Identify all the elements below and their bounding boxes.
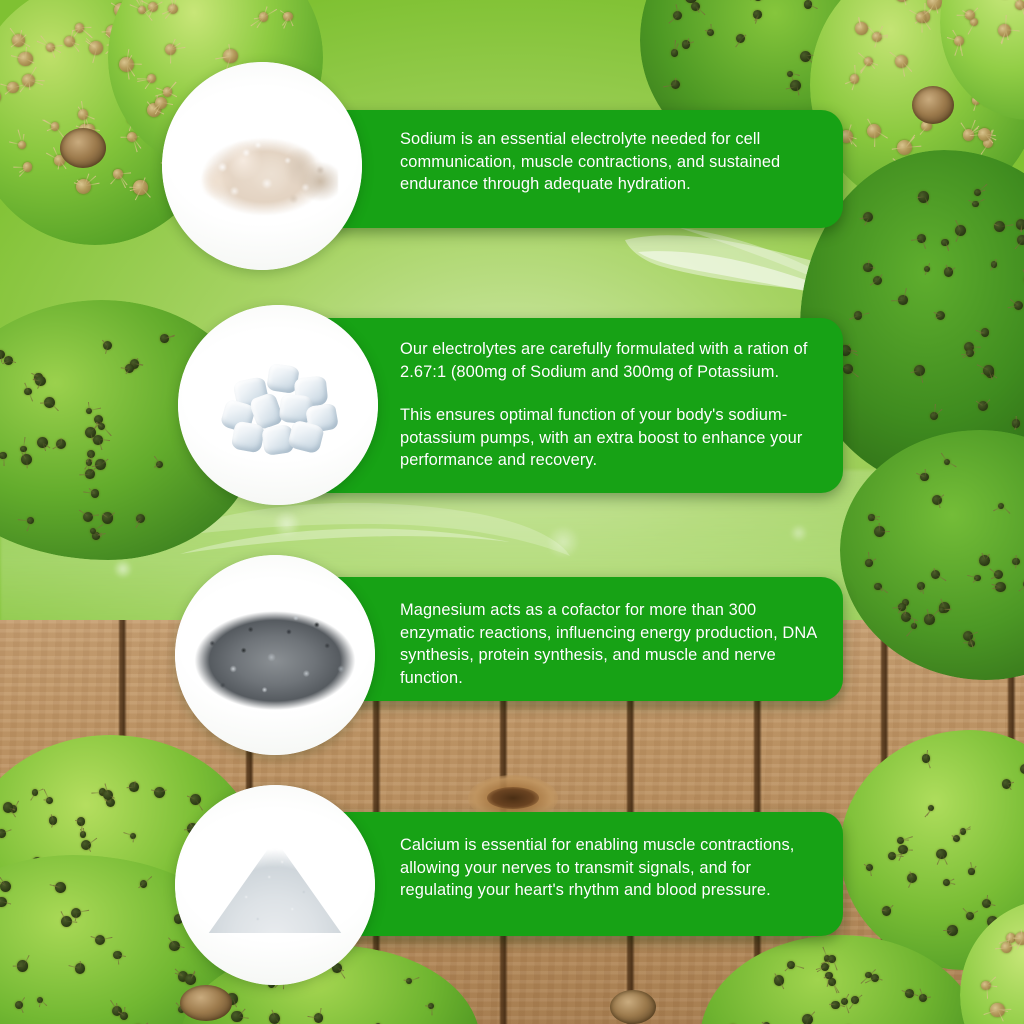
product-image-calcium — [175, 785, 375, 985]
cactus-spine-icon — [3, 456, 5, 467]
card-text-potassium-pumps: This ensures optimal function of your bo… — [400, 404, 819, 472]
cactus-spine-icon — [904, 849, 913, 851]
info-card-calcium: Calcium is essential for enabling muscle… — [300, 812, 843, 936]
cactus-spine-icon — [92, 791, 103, 793]
potassium-crystals-icon — [218, 349, 342, 465]
cactus-spine-icon — [924, 469, 926, 477]
cactus-spine-icon — [944, 930, 953, 932]
magnesium-flakes-icon — [191, 599, 359, 711]
wood-knot-core-decoration — [487, 787, 539, 809]
card-text-potassium-ratio: Our electrolytes are carefully formulate… — [400, 338, 819, 383]
cactus-spine-icon — [80, 961, 82, 968]
cactus-spine-icon — [12, 965, 23, 966]
cactus-spine-icon — [921, 17, 923, 32]
cactus-spine-icon — [880, 531, 890, 533]
cactus-spine-icon — [1016, 416, 1018, 423]
product-image-magnesium — [175, 555, 375, 755]
cactus-spine-icon — [710, 24, 712, 33]
card-text-calcium: Calcium is essential for enabling muscle… — [400, 834, 819, 902]
card-text-sodium: Sodium is an essential electrolyte neede… — [400, 128, 819, 196]
cactus-spine-icon — [1005, 15, 1007, 30]
cactus-spine-icon — [431, 1006, 433, 1016]
product-image-sodium — [162, 62, 362, 270]
cactus-spine-icon — [874, 131, 876, 147]
salt-crystals-icon — [190, 124, 338, 220]
info-card-potassium: Our electrolytes are carefully formulate… — [300, 318, 843, 493]
info-card-magnesium: Magnesium acts as a cofactor for more th… — [300, 577, 843, 701]
cactus-navel-icon — [912, 86, 954, 124]
cactus-navel-icon — [60, 128, 106, 168]
cactus-spine-icon — [891, 299, 903, 301]
cactus-spine-icon — [79, 473, 90, 475]
product-image-potassium — [178, 305, 378, 505]
cactus-navel-icon — [180, 985, 232, 1021]
infographic-canvas: Sodium is an essential electrolyte neede… — [0, 0, 1024, 1024]
cactus-navel-icon — [610, 990, 656, 1024]
info-card-sodium: Sodium is an essential electrolyte neede… — [300, 110, 843, 228]
cactus-spine-icon — [846, 350, 855, 351]
cactus-spine-icon — [878, 36, 888, 37]
card-text-magnesium: Magnesium acts as a cofactor for more th… — [400, 599, 819, 689]
cactus-spine-icon — [957, 14, 971, 15]
